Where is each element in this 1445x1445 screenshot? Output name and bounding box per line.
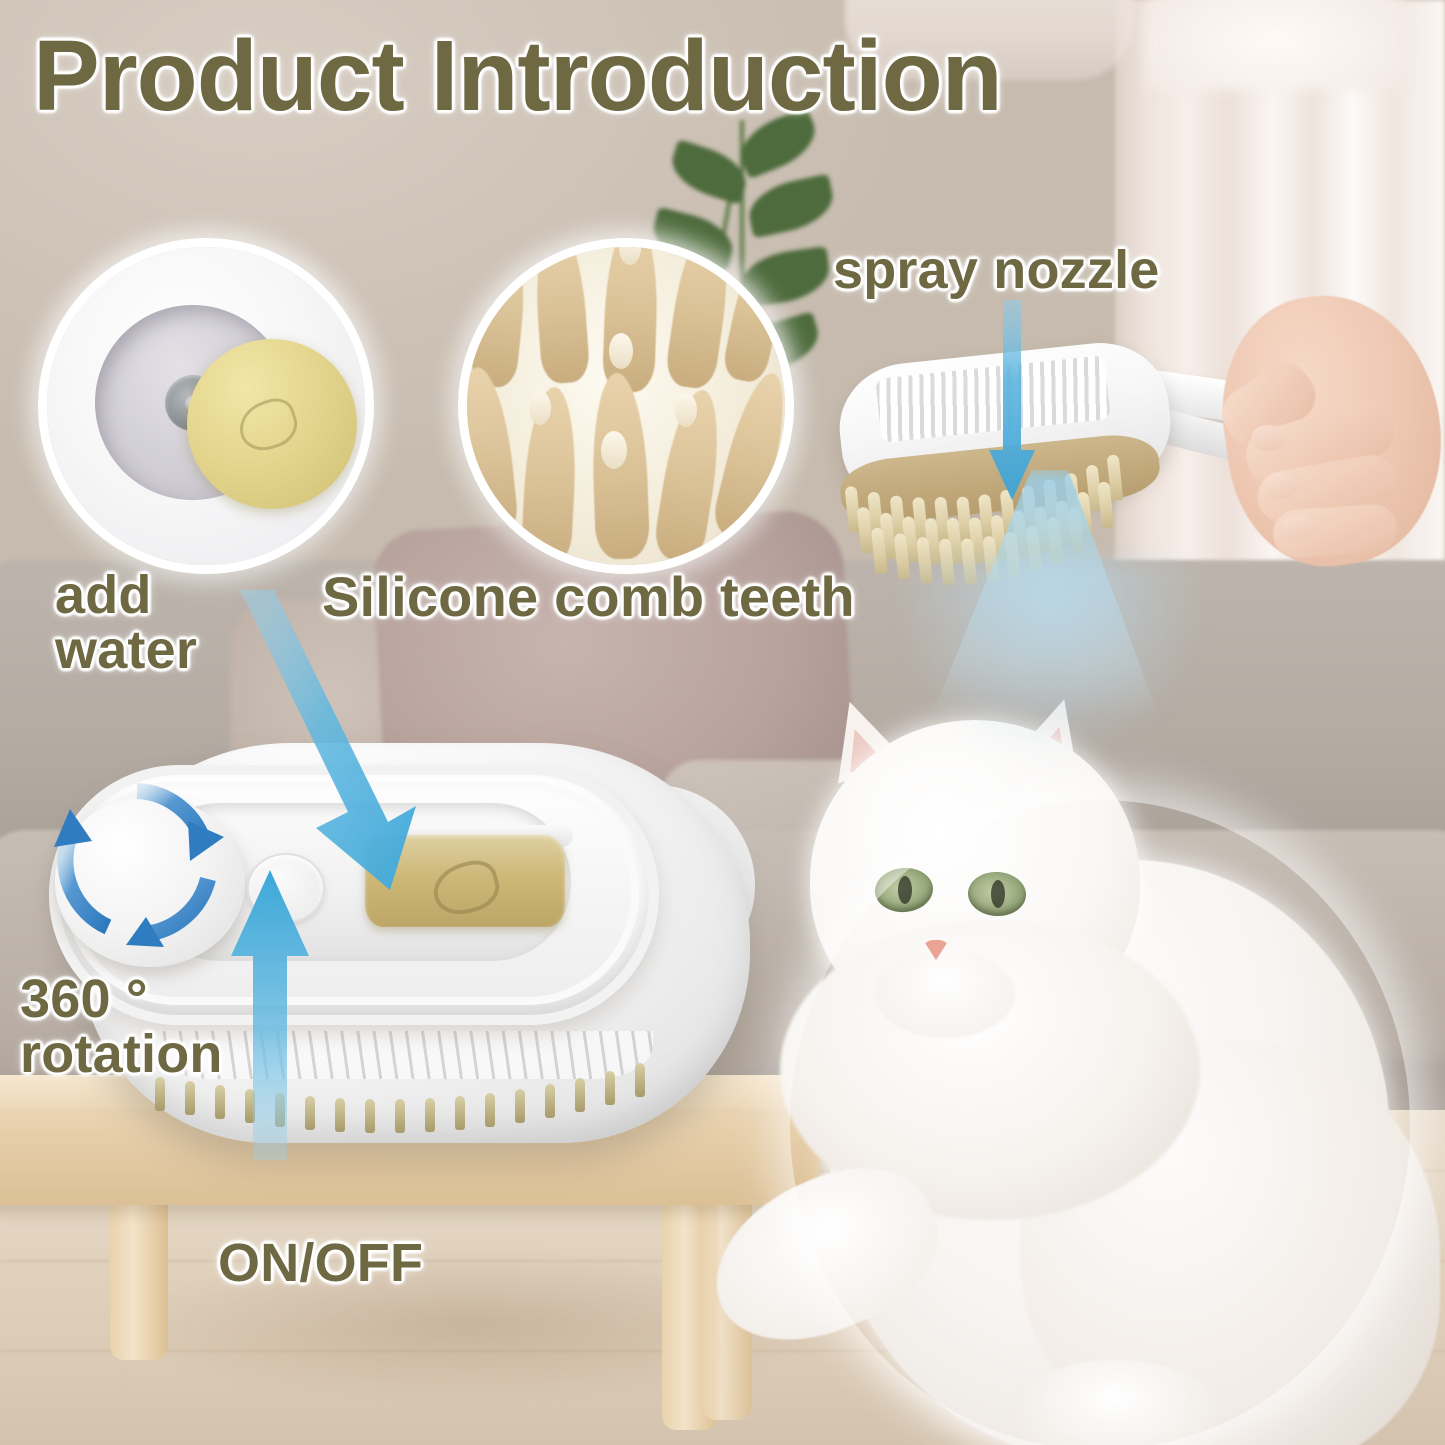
inset-silicone-comb-teeth — [458, 238, 794, 574]
rotation-arrows-icon — [48, 775, 226, 950]
spray-nozzle-arrow-icon — [985, 300, 1039, 500]
hand — [1215, 285, 1445, 615]
spray-mist-diffuse — [900, 560, 1200, 760]
label-on-off: ON/OFF — [218, 1236, 423, 1291]
label-silicone-comb-teeth: Silicone comb teeth — [322, 568, 855, 625]
gold-cap — [187, 339, 357, 509]
label-360-rotation: 360 ° rotation — [20, 972, 223, 1082]
on-off-arrow-icon — [225, 870, 315, 1160]
label-add-water: add water — [55, 568, 197, 678]
product-infographic: Product Introduction spray nozzle add wa… — [0, 0, 1445, 1445]
page-title: Product Introduction — [33, 25, 1002, 127]
add-water-arrow-icon — [240, 590, 440, 890]
inset-add-water — [38, 238, 374, 574]
table-leg — [110, 1190, 168, 1360]
label-spray-nozzle: spray nozzle — [833, 243, 1160, 298]
curtain-highlight — [1145, 0, 1405, 90]
